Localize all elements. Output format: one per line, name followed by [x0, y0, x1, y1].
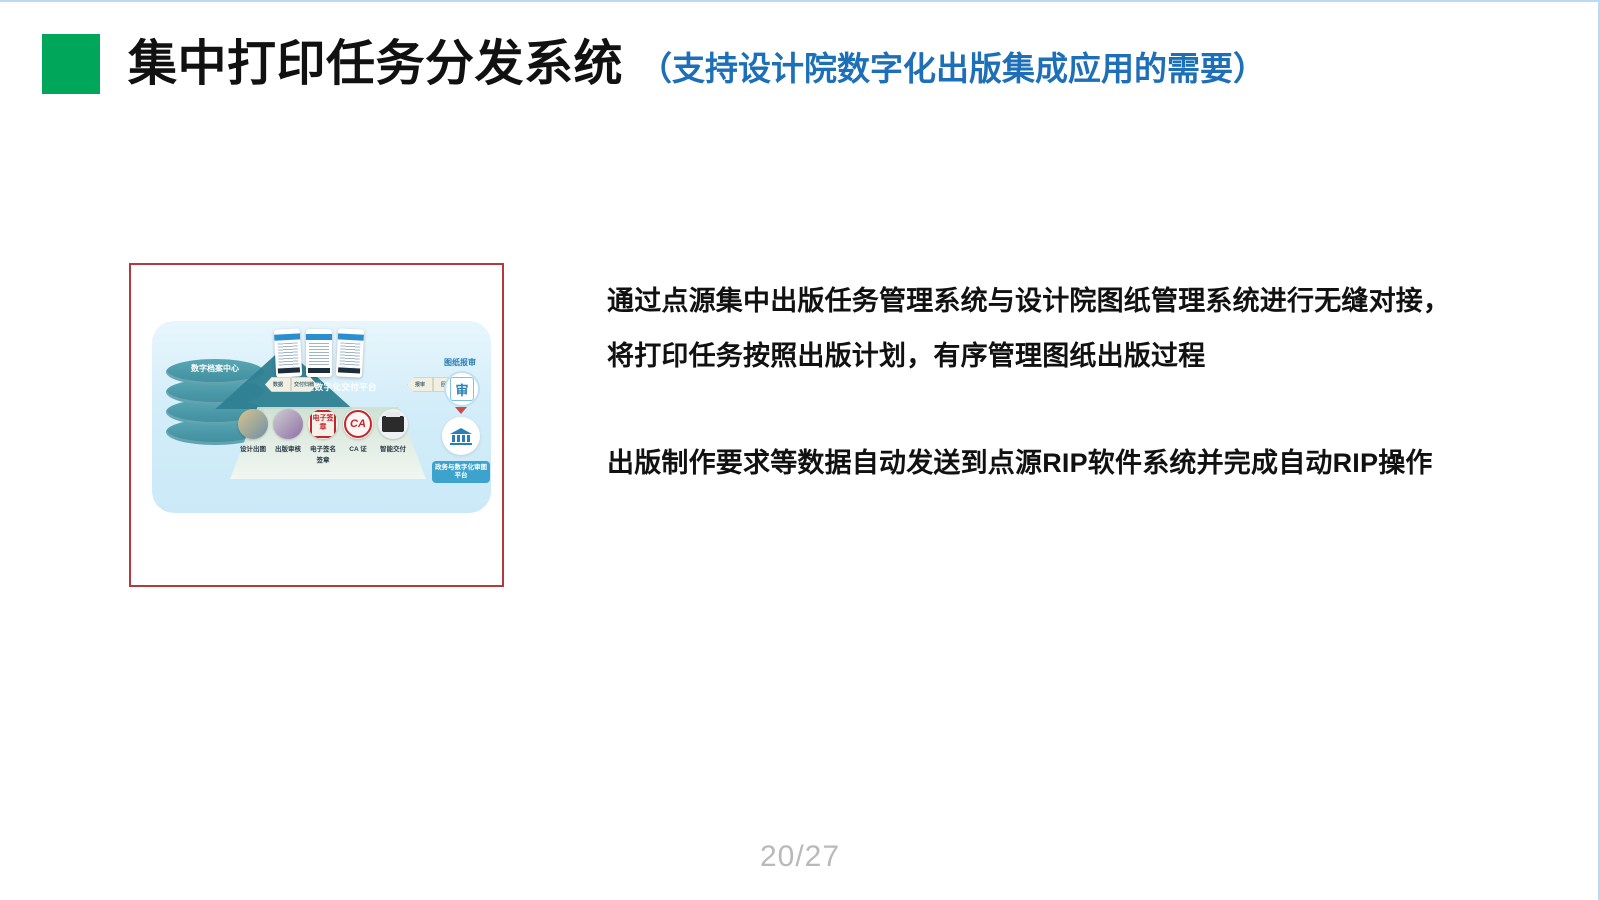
- page-number: 20/27: [0, 840, 1600, 874]
- stamp-shape: 电子签章: [310, 410, 336, 438]
- page-title: 集中打印任务分发系统: [128, 40, 623, 89]
- device-footer-bar: [338, 367, 360, 373]
- e-signature-stamp-icon: 电子签章: [308, 409, 338, 439]
- body-paragraph-1: 通过点源集中出版任务管理系统与设计院图纸管理系统进行无缝对接，将打印任务按照出版…: [607, 274, 1455, 384]
- title-bullet-square: [42, 34, 100, 94]
- down-caret-icon: [455, 407, 467, 414]
- bank-roof: [450, 428, 472, 434]
- slide-canvas: 集中打印任务分发系统 （支持设计院数字化出版集成应用的需要） 数字档案中心: [0, 0, 1600, 900]
- icon-caption: 智能交付: [371, 443, 415, 453]
- icon-caption-secondary: 签章: [301, 454, 345, 464]
- device-content-lines: [277, 342, 298, 367]
- arrow-pair-left: 数据 交付归档: [265, 377, 317, 393]
- device-content-lines: [309, 343, 329, 367]
- bank-icon-shape: [450, 428, 472, 445]
- printer-icon: [378, 409, 408, 439]
- arrow-right-icon: 交付归档: [291, 377, 317, 392]
- device-content-lines: [339, 342, 360, 367]
- slide-title-row: 集中打印任务分发系统 （支持设计院数字化出版集成应用的需要）: [42, 28, 1266, 100]
- figure-frame: 数字档案中心 设计企业数字化交付平台: [129, 263, 504, 587]
- page-subtitle: （支持设计院数字化出版集成应用的需要）: [639, 52, 1266, 85]
- device-header-bar: [306, 334, 332, 340]
- drawing-review-label: 图纸报审: [432, 357, 488, 368]
- device-header-bar: [338, 333, 364, 340]
- publish-review-icon: [273, 409, 303, 439]
- design-drawing-icon: [238, 409, 268, 439]
- body-paragraph-2: 出版制作要求等数据自动发送到点源RIP软件系统并完成自动RIP操作: [607, 436, 1455, 491]
- device-footer-bar: [308, 368, 330, 373]
- device-mockup: [306, 329, 332, 377]
- review-seal-text: 审: [450, 377, 474, 401]
- government-building-icon: [442, 417, 480, 455]
- database-label: 数字档案中心: [166, 363, 264, 374]
- arrow-left-icon: 数据: [265, 377, 291, 392]
- printer-shape: [382, 416, 404, 432]
- device-footer-bar: [278, 367, 300, 373]
- bank-columns: [452, 435, 470, 442]
- device-header-bar: [274, 333, 300, 340]
- ca-badge-shape: CA: [344, 410, 372, 438]
- arrow-left-icon: 报审: [407, 377, 433, 392]
- government-platform-label: 政务与数字化审图平台: [432, 461, 490, 483]
- review-seal-icon: 审: [444, 371, 480, 407]
- body-text-block: 通过点源集中出版任务管理系统与设计院图纸管理系统进行无缝对接，将打印任务按照出版…: [607, 274, 1455, 491]
- delivery-platform-diagram: 数字档案中心 设计企业数字化交付平台: [152, 321, 491, 513]
- title-text-wrapper: 集中打印任务分发系统 （支持设计院数字化出版集成应用的需要）: [128, 40, 1266, 89]
- device-mockup: [336, 328, 364, 377]
- device-mockup: [274, 328, 302, 377]
- bank-floor: [450, 443, 472, 445]
- ca-certificate-icon: CA: [343, 409, 373, 439]
